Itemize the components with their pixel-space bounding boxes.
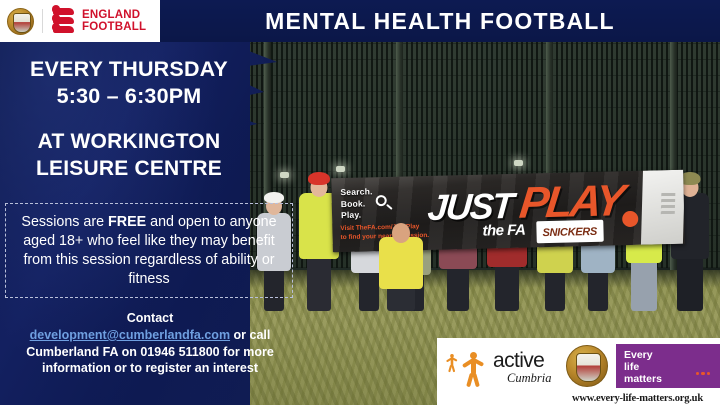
eligibility-text: Sessions are FREE and open to anyone age…: [14, 213, 284, 289]
cumberland-fa-crest-icon: [7, 8, 34, 35]
page-title: MENTAL HEALTH FOOTBALL: [160, 0, 720, 42]
when-line-2: 5:30 – 6:30PM: [0, 83, 258, 110]
banner-right-panel: [641, 170, 685, 245]
banner-just-word: JUST: [426, 188, 513, 226]
banner-the-fa-label: the FA: [482, 222, 525, 240]
elm-logo-group: Every life matters www.every-life-matter…: [555, 338, 720, 405]
active-cumbria-logo: active Cumbria: [437, 338, 555, 405]
elm-dots-icon: [694, 362, 711, 380]
schedule-block: EVERY THURSDAY 5:30 – 6:30PM: [0, 56, 258, 110]
elm-website-url[interactable]: www.every-life-matters.org.uk: [555, 393, 720, 404]
cumberland-fa-crest-footer-icon: [566, 345, 608, 387]
contact-email-line: development@cumberlandfa.com or call: [0, 327, 300, 344]
snickers-label: SNICKERS: [542, 226, 597, 239]
contact-email-link[interactable]: development@cumberlandfa.com: [30, 328, 230, 342]
free-keyword: FREE: [108, 214, 146, 230]
banner-right-mark-icon: [661, 192, 676, 214]
contact-or-call: or call: [230, 328, 270, 342]
banner-play-word: PLAY: [517, 179, 624, 226]
where-line-1: AT WORKINGTON: [0, 128, 258, 155]
contact-block: Contact development@cumberlandfa.com or …: [0, 310, 300, 377]
eligibility-box: Sessions are FREE and open to anyone age…: [5, 203, 293, 298]
where-line-2: LEISURE CENTRE: [0, 155, 258, 182]
three-lions-icon: [51, 7, 77, 35]
logo-divider: [42, 9, 43, 33]
banner-book-label: Book.: [341, 198, 366, 209]
snickers-logo: SNICKERS: [536, 220, 604, 244]
contact-line-2: Cumberland FA on 01946 511800 for more: [0, 344, 300, 361]
every-life-matters-logo: Every life matters: [616, 344, 720, 388]
active-label: active: [493, 350, 544, 372]
eligibility-part1: Sessions are: [21, 214, 108, 230]
banner-search-label: Search.: [340, 186, 372, 197]
football-label: FOOTBALL: [82, 21, 146, 33]
venue-block: AT WORKINGTON LEISURE CENTRE: [0, 128, 258, 182]
banner-search-book-play: Search. Book. Play.: [340, 186, 373, 221]
england-label: ENGLAND: [82, 9, 146, 21]
participant-kneeling: [374, 215, 428, 311]
cumbria-label: Cumbria: [507, 371, 551, 386]
when-line-1: EVERY THURSDAY: [0, 56, 258, 83]
magnifier-icon: [376, 195, 387, 206]
elm-line-1: Every: [624, 349, 720, 361]
banner-dot-icon: [622, 211, 638, 227]
active-cumbria-figures-icon: [446, 350, 494, 390]
contact-line-3: information or to register an interest: [0, 360, 300, 377]
banner-play-label: Play.: [341, 210, 361, 220]
england-football-wordmark: ENGLAND FOOTBALL: [82, 9, 146, 33]
partner-logo-bar: active Cumbria Every life matters www.ev…: [437, 338, 720, 405]
header-logo-strip: ENGLAND FOOTBALL: [0, 0, 160, 42]
contact-heading: Contact: [0, 310, 300, 327]
poster-canvas: Search. Book. Play. Visit TheFA.com/Just…: [0, 0, 720, 405]
